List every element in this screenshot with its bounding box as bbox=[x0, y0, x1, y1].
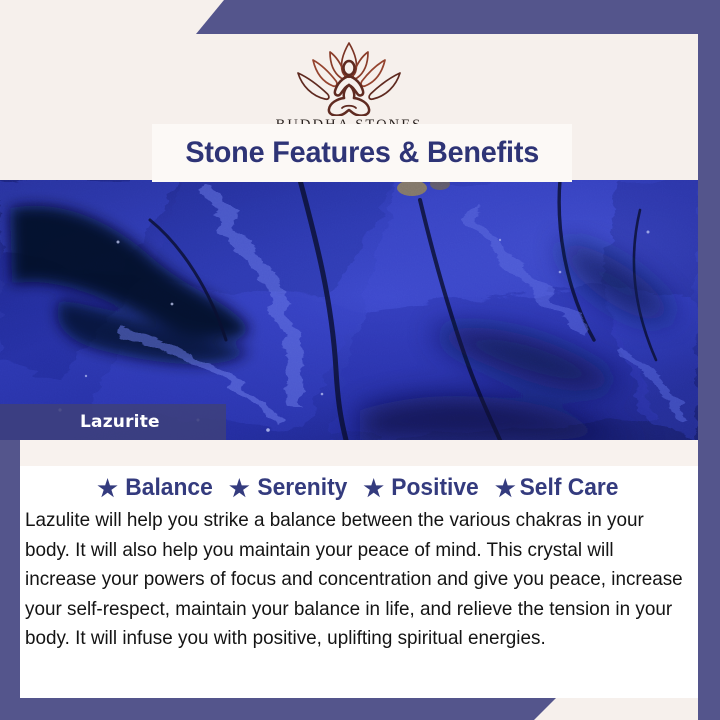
left-accent-bar bbox=[0, 440, 20, 698]
star-icon: ★ bbox=[363, 477, 384, 500]
stone-description: Lazulite will help you strike a balance … bbox=[25, 506, 684, 654]
stone-caption-band: Lazurite bbox=[0, 404, 226, 440]
benefit-item: ★ Serenity bbox=[229, 474, 349, 502]
benefit-item: ★ Self Care bbox=[495, 474, 621, 502]
lazurite-stone-graphic bbox=[0, 180, 698, 440]
poster-root: BUDDHA STONES Stone Features & Benefits bbox=[0, 0, 720, 720]
right-accent-bar bbox=[698, 0, 720, 720]
benefit-label: Balance bbox=[125, 474, 212, 502]
star-icon: ★ bbox=[229, 477, 250, 500]
benefit-label: Self Care bbox=[519, 474, 618, 502]
bottom-accent-band bbox=[0, 698, 556, 720]
star-icon: ★ bbox=[495, 477, 516, 500]
top-accent-band bbox=[196, 0, 720, 34]
benefit-label: Positive bbox=[391, 474, 478, 502]
brand-logo: BUDDHA STONES bbox=[0, 38, 698, 134]
star-icon: ★ bbox=[97, 477, 118, 500]
benefit-item: ★ Positive bbox=[363, 474, 481, 502]
benefits-row: ★ Balance ★ Serenity ★ Positive ★ Self C… bbox=[20, 474, 698, 502]
content-panel: ★ Balance ★ Serenity ★ Positive ★ Self C… bbox=[20, 440, 698, 698]
benefit-label: Serenity bbox=[257, 474, 347, 502]
stone-image bbox=[0, 180, 698, 440]
stone-name-label: Lazurite bbox=[80, 412, 160, 432]
title-banner: Stone Features & Benefits bbox=[152, 124, 572, 182]
page-title: Stone Features & Benefits bbox=[185, 136, 539, 170]
lotus-meditation-icon bbox=[274, 38, 424, 116]
benefit-item: ★ Balance bbox=[97, 474, 215, 502]
panel-top-strip bbox=[20, 440, 698, 466]
